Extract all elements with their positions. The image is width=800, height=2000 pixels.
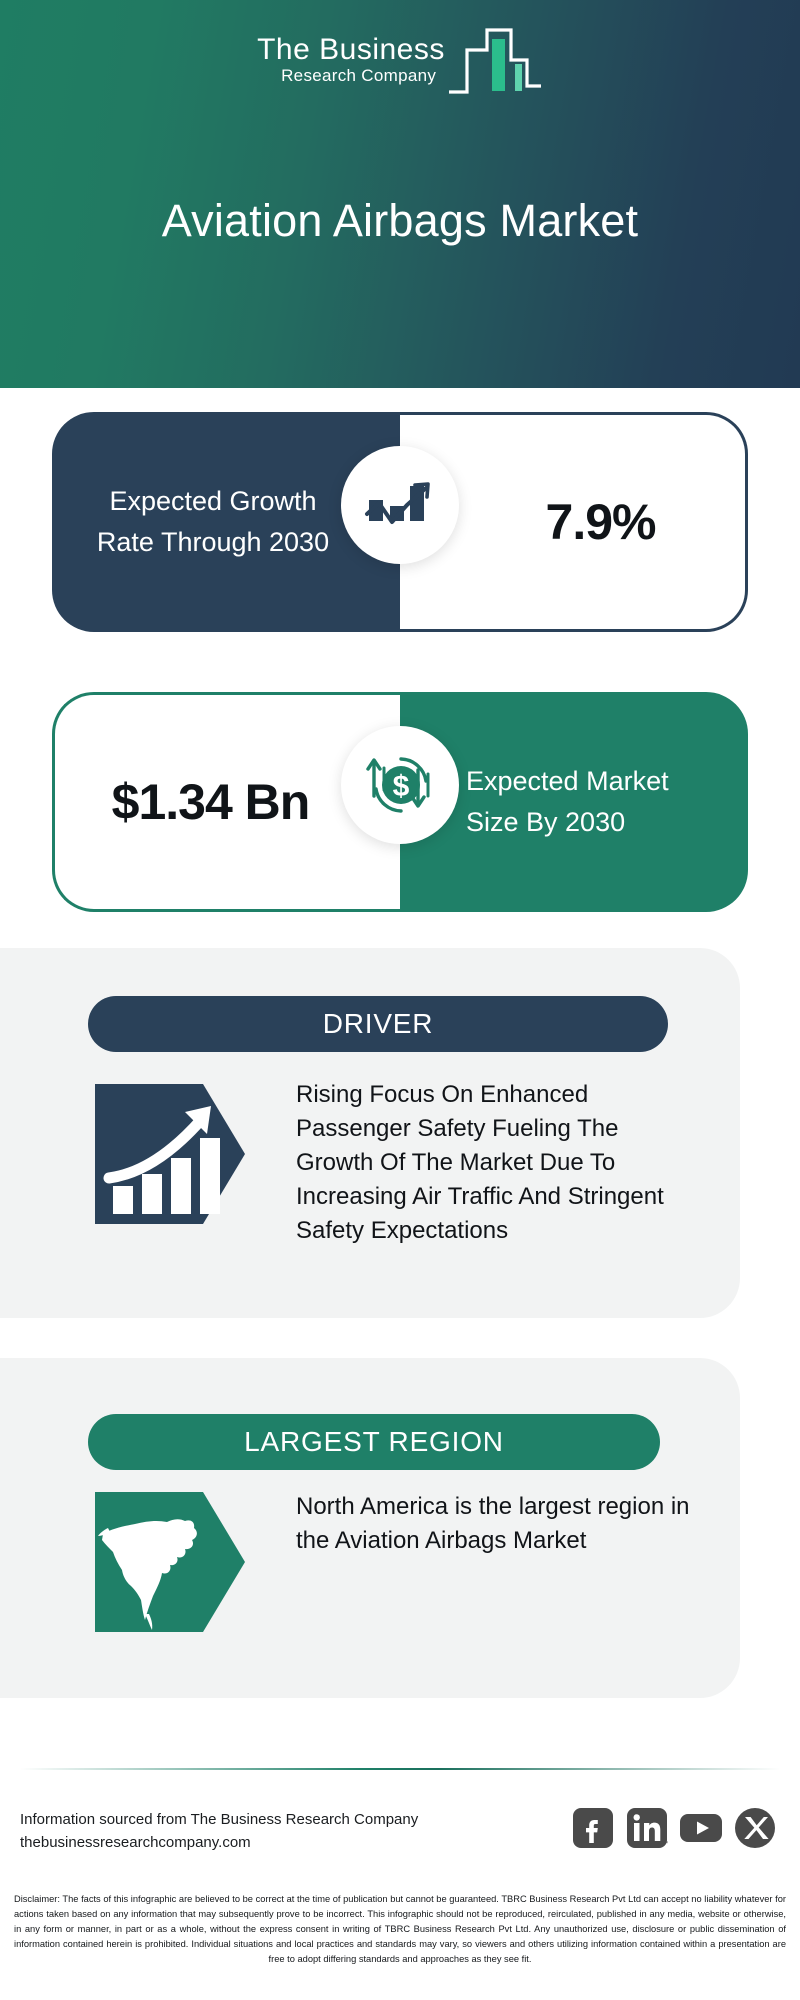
source-attribution: Information sourced from The Business Re…	[20, 1808, 480, 1855]
disclaimer-text: Disclaimer: The facts of this infographi…	[14, 1892, 786, 1967]
north-america-map-icon	[95, 1488, 245, 1641]
logo-line-1: The Business	[257, 35, 445, 65]
dollar-cycle-icon: $	[341, 726, 459, 844]
page-title: Aviation Airbags Market	[0, 195, 800, 247]
stat-card-market-size: $1.34 Bn Expected Market Size By 2030 $	[52, 692, 748, 912]
x-twitter-icon[interactable]	[734, 1807, 776, 1849]
source-website[interactable]: thebusinessresearchcompany.com	[20, 1831, 480, 1854]
stat-label: Expected Market Size By 2030	[466, 761, 716, 843]
growth-bars-arrow-icon	[95, 1080, 245, 1233]
stat-value: 7.9%	[546, 493, 656, 551]
growth-chart-arrow-icon	[341, 446, 459, 564]
driver-text: Rising Focus On Enhanced Passenger Safet…	[296, 1078, 696, 1248]
driver-tag: DRIVER	[88, 996, 668, 1052]
logo-line-2: Research Company	[281, 65, 436, 86]
svg-text:$: $	[393, 770, 410, 803]
svg-text:™: ™	[663, 1840, 668, 1847]
social-links: ™	[572, 1807, 776, 1849]
largest-region-tag: LARGEST REGION	[88, 1414, 660, 1470]
stat-label: Expected Growth Rate Through 2030	[88, 481, 338, 563]
largest-region-text: North America is the largest region in t…	[296, 1490, 716, 1558]
youtube-icon[interactable]	[680, 1807, 722, 1849]
source-line-1: Information sourced from The Business Re…	[20, 1808, 480, 1831]
bar-chart-logo-mark	[447, 24, 543, 101]
linkedin-icon[interactable]: ™	[626, 1807, 668, 1849]
footer-divider	[20, 1768, 780, 1770]
company-logo: The Business Research Company	[0, 20, 800, 102]
logo-wordmark: The Business Research Company	[257, 35, 445, 86]
header-banner: The Business Research Company Aviation A…	[0, 0, 800, 388]
facebook-icon[interactable]	[572, 1807, 614, 1849]
stat-value: $1.34 Bn	[101, 772, 321, 833]
stat-card-growth-rate: Expected Growth Rate Through 2030 7.9%	[52, 412, 748, 632]
